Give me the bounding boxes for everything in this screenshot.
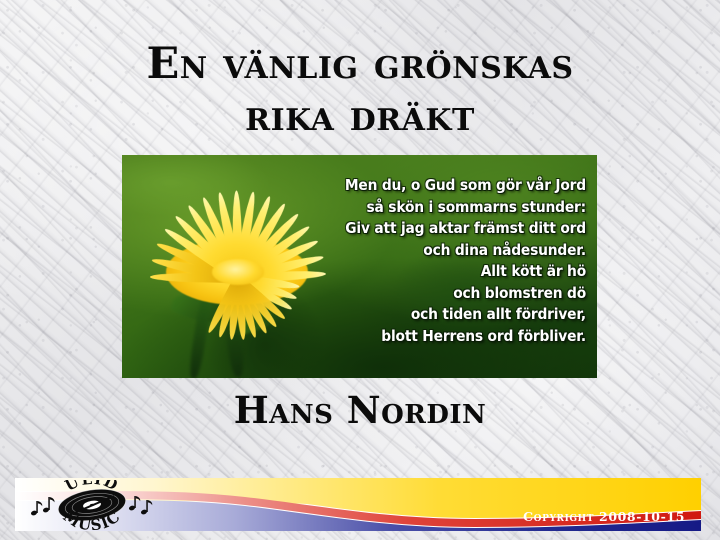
title-line-1: En vänlig grönskas — [0, 38, 720, 90]
verse-line: och blomstren dö — [282, 283, 586, 305]
logo-graphic: ULID MUSIC — [28, 480, 156, 530]
verse-line: Allt kött är hö — [282, 261, 586, 283]
ulid-music-logo: ULID MUSIC — [28, 480, 156, 530]
slide-canvas: En vänlig grönskas rika dräkt — [0, 0, 720, 540]
title-line-2: rika dräkt — [0, 90, 720, 142]
music-note-icon — [128, 496, 152, 515]
slide-title: En vänlig grönskas rika dräkt — [0, 38, 720, 142]
verse-line: så skön i sommarns stunder: — [282, 197, 586, 219]
music-note-icon — [30, 497, 54, 516]
verse-line: och dina nådesunder. — [282, 240, 586, 262]
verse-line: Giv att jag aktar främst ditt ord — [282, 218, 586, 240]
verse-line: blott Herrens ord förbliver. — [282, 326, 586, 348]
verse-text-block: Men du, o Gud som gör vår Jord så skön i… — [256, 175, 586, 347]
dandelion-photo: Men du, o Gud som gör vår Jord så skön i… — [122, 155, 597, 378]
copyright-text: Copyright 2008-10-15 — [523, 509, 685, 524]
author-name: Hans Nordin — [0, 388, 720, 432]
verse-line: och tiden allt fördriver, — [282, 304, 586, 326]
verse-line: Men du, o Gud som gör vår Jord — [282, 175, 586, 197]
